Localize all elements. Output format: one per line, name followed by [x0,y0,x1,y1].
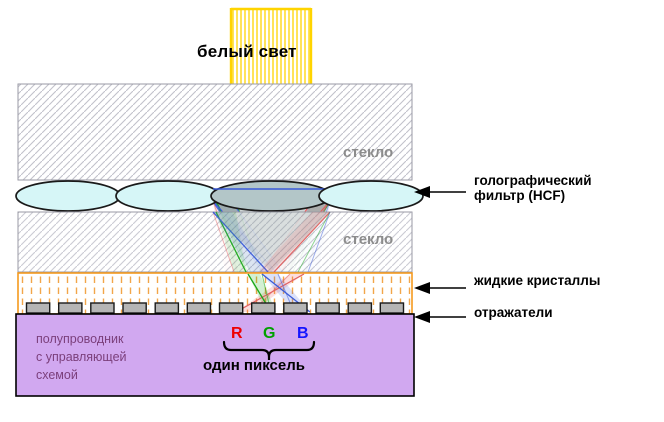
hcf-lens [16,181,120,211]
liquid-crystals-label: жидкие кристаллы [474,273,600,288]
arrow-reflectors [414,311,466,323]
subpixel-letter-g: G [263,325,275,343]
white-light-label: белый свет [197,42,297,61]
reflector-block [348,303,371,313]
reflector-block [220,303,243,313]
semiconductor-label-line2: с управляющей [36,348,127,366]
hcf-label-line2: фильтр (HCF) [474,188,592,203]
reflector-block [316,303,339,313]
reflector-block [284,303,307,313]
semiconductor-label-line1: полупроводник [36,330,127,348]
glass-label-top: стекло [343,145,393,162]
hcf-lens [319,181,423,211]
arrow-liquid-crystals [414,282,466,294]
glass-layer-top [18,84,412,180]
reflector-block [91,303,114,313]
reflector-block [123,303,146,313]
reflector-block [380,303,403,313]
semiconductor-label: полупроводник с управляющей схемой [36,330,127,384]
reflectors-label: отражатели [474,305,553,320]
one-pixel-label: один пиксель [203,358,305,375]
semiconductor-label-line3: схемой [36,366,127,384]
reflector-block [27,303,50,313]
hcf-lens [116,181,220,211]
hcf-label-line1: голографический [474,173,592,188]
subpixel-letter-r: R [231,325,243,343]
holographic-lcd-diagram: белый свет стекло стекло голографический… [0,0,664,417]
callout-arrows [414,186,466,323]
hcf-lens-active [211,181,331,211]
reflector-block [59,303,82,313]
hcf-label: голографический фильтр (HCF) [474,173,592,203]
glass-label-bottom: стекло [343,232,393,249]
reflector-block [155,303,178,313]
reflector-block [252,303,275,313]
subpixel-letter-b: B [297,325,309,343]
reflector-block [187,303,210,313]
